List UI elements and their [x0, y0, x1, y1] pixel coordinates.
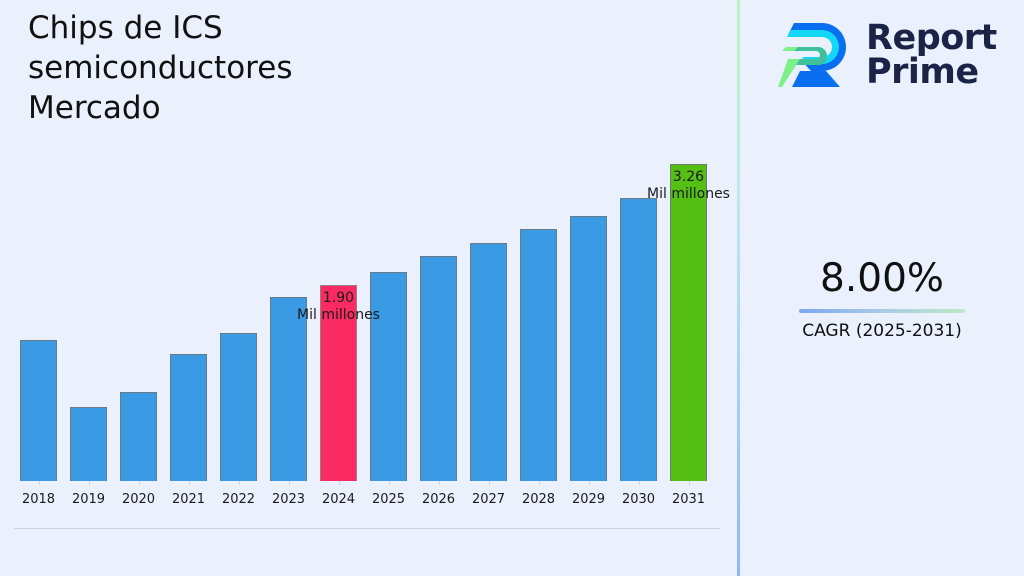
bar-2018 — [20, 340, 57, 481]
bar-2021 — [170, 354, 207, 481]
x-tick-2030 — [639, 481, 640, 485]
x-tick-2028 — [539, 481, 540, 485]
bar-2022 — [220, 333, 257, 481]
plot-area: 2018201920202021202220232024202520262027… — [0, 0, 737, 529]
x-tick-2031 — [689, 481, 690, 485]
x-tick-2026 — [439, 481, 440, 485]
bar-2031 — [670, 164, 707, 481]
x-tick-2022 — [239, 481, 240, 485]
bar-2026 — [420, 256, 457, 481]
value-callout-2024: 1.90 Mil millones — [269, 290, 409, 324]
cagr-divider — [799, 309, 965, 313]
x-tick-2023 — [289, 481, 290, 485]
bar-2019 — [70, 407, 107, 481]
x-tick-2021 — [189, 481, 190, 485]
side-panel: Report Prime 8.00% CAGR (2025-2031) — [740, 0, 1024, 576]
cagr-value: 8.00% — [740, 255, 1024, 303]
x-tick-2018 — [39, 481, 40, 485]
bar-2027 — [470, 243, 507, 481]
bar-2030 — [620, 198, 657, 481]
brand-logo: Report Prime — [778, 14, 1018, 96]
cagr-label: CAGR (2025-2031) — [740, 320, 1024, 342]
infographic-root: Chips de ICS semiconductores Mercado 201… — [0, 0, 1024, 576]
bar-2023 — [270, 297, 307, 481]
x-label-2031: 2031 — [659, 492, 719, 507]
x-axis-baseline — [14, 528, 720, 529]
x-tick-2027 — [489, 481, 490, 485]
bar-chart: 2018201920202021202220232024202520262027… — [0, 0, 737, 576]
cagr-block: 8.00% CAGR (2025-2031) — [740, 255, 1024, 342]
bar-2029 — [570, 216, 607, 481]
bar-2020 — [120, 392, 157, 481]
brand-name: Report Prime — [866, 21, 997, 89]
x-tick-2024 — [339, 481, 340, 485]
bar-2028 — [520, 229, 557, 481]
report-prime-logo-icon — [778, 19, 852, 91]
x-tick-2019 — [89, 481, 90, 485]
x-tick-2025 — [389, 481, 390, 485]
x-tick-2029 — [589, 481, 590, 485]
x-tick-2020 — [139, 481, 140, 485]
